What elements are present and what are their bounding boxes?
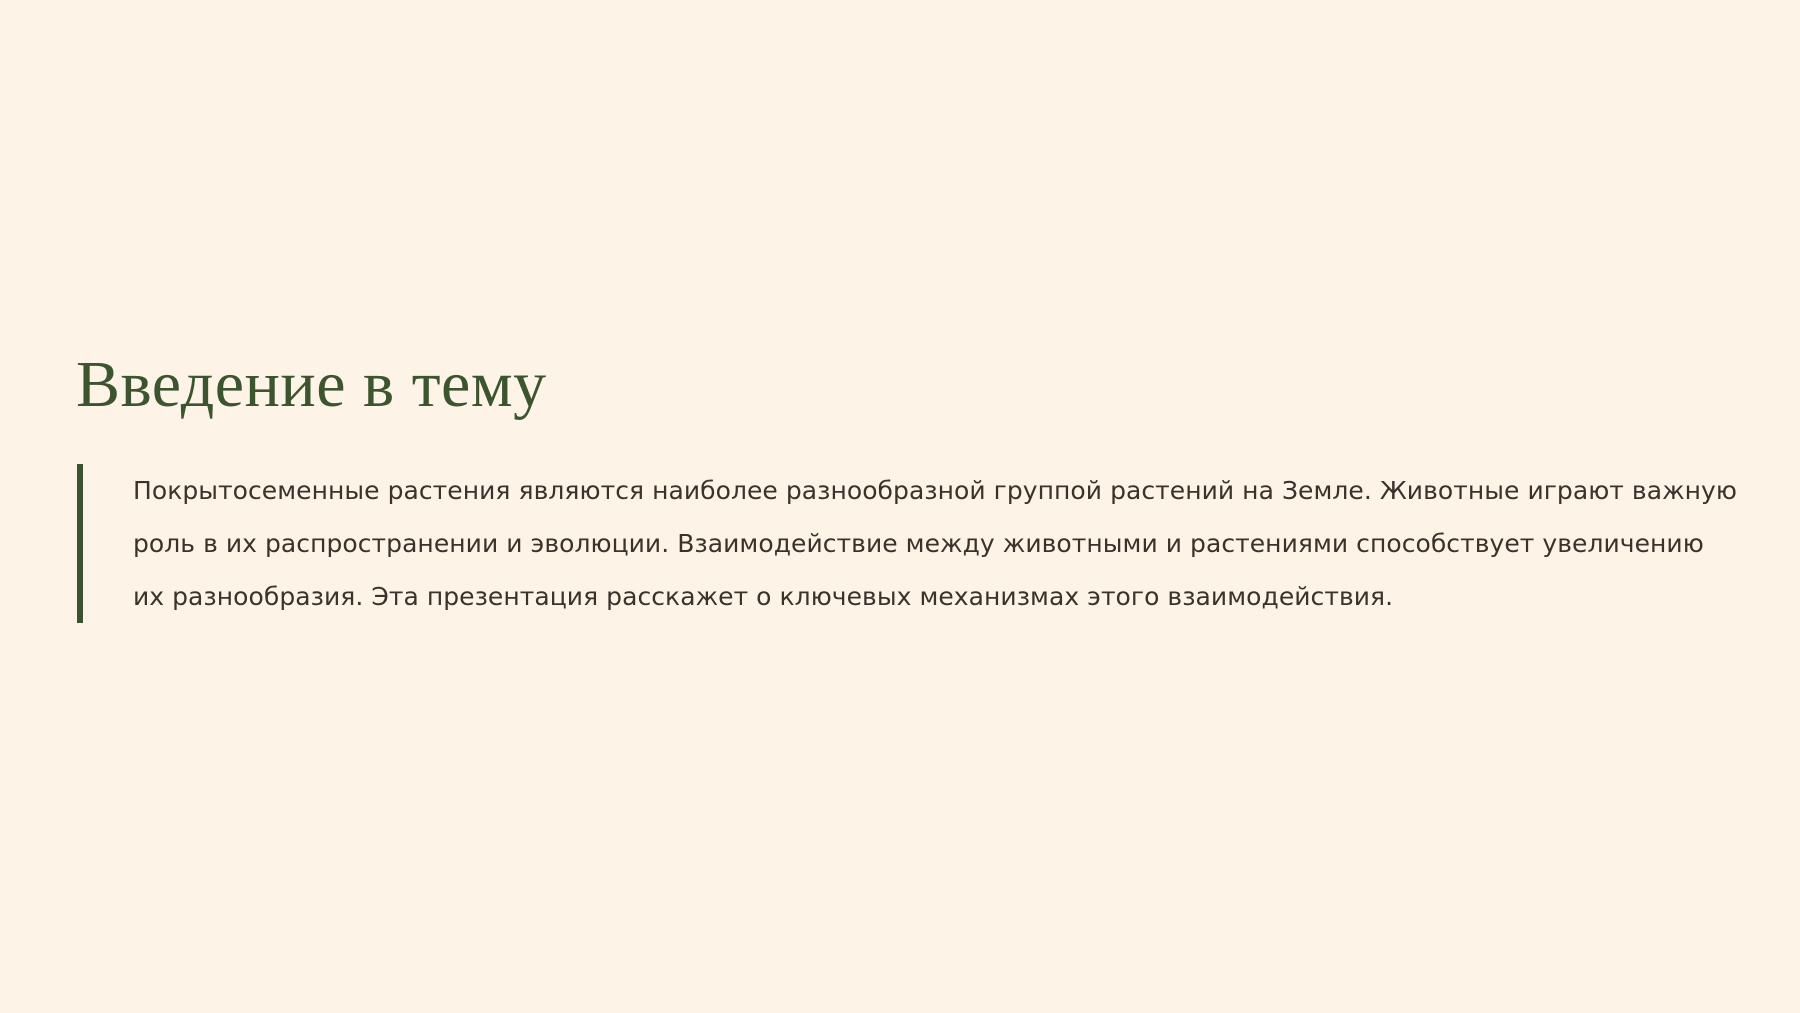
body-text-block: Покрытосеменные растения являются наибол…	[77, 464, 1737, 623]
slide-title: Введение в тему	[76, 348, 547, 422]
presentation-slide: Введение в тему Покрытосеменные растения…	[0, 0, 1800, 1013]
slide-body-paragraph: Покрытосеменные растения являются наибол…	[83, 464, 1737, 623]
